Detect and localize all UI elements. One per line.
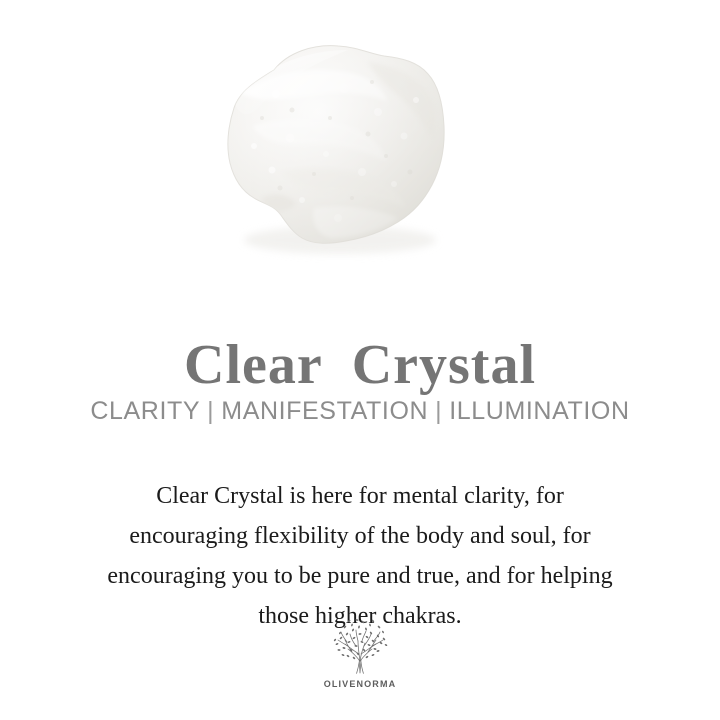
keyword-separator: |	[200, 397, 221, 425]
keyword-clarity: CLARITY	[90, 397, 200, 425]
description-line: encouraging you to be pure and true, and…	[36, 556, 684, 596]
keyword-manifestation: MANIFESTATION	[221, 397, 428, 425]
page-title: Clear Crystal	[0, 335, 720, 397]
olive-tree-icon	[323, 616, 397, 678]
product-description: Clear Crystal is here for mental clarity…	[36, 476, 684, 636]
description-line: Clear Crystal is here for mental clarity…	[36, 476, 684, 516]
keyword-illumination: ILLUMINATION	[449, 397, 629, 425]
brand-logo: OLIVENORMA	[0, 616, 720, 689]
product-image-container	[0, 0, 720, 285]
clear-quartz-crystal-image	[218, 22, 468, 270]
description-line: encouraging flexibility of the body and …	[36, 516, 684, 556]
keyword-list: CLARITY|MANIFESTATION|ILLUMINATION	[0, 396, 720, 427]
brand-name: OLIVENORMA	[0, 679, 720, 689]
keyword-separator: |	[428, 397, 449, 425]
product-info-card: Clear Crystal CLARITY|MANIFESTATION|ILLU…	[0, 0, 720, 720]
